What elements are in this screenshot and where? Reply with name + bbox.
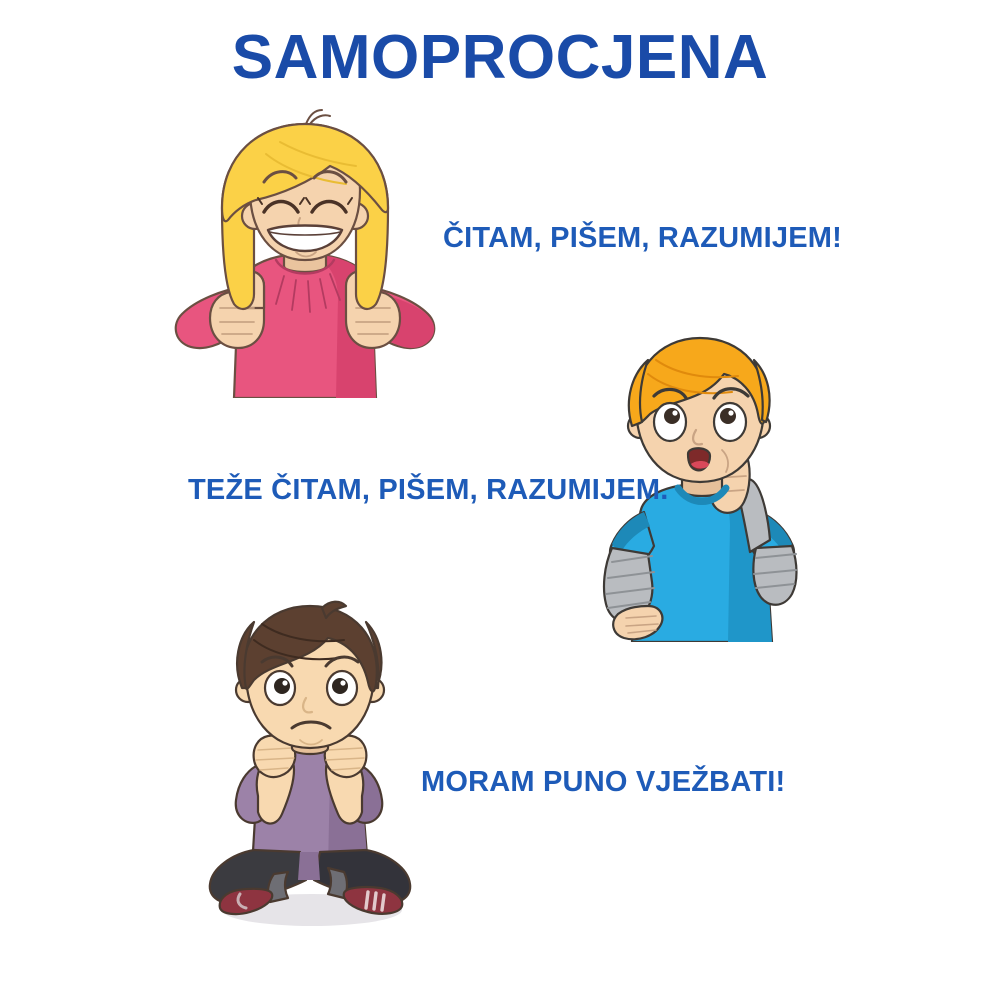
caption-reads-writes-understands: ČITAM, PIŠEM, RAZUMIJEM! [443, 222, 842, 255]
caption-must-practice-a-lot: MORAM PUNO VJEŽBATI! [421, 766, 785, 799]
illustration-happy-girl [160, 108, 450, 398]
poster-canvas: SAMOPROCJENA [0, 0, 1000, 1000]
caption-reads-writes-harder: TEŽE ČITAM, PIŠEM, RAZUMIJEM. [188, 474, 669, 507]
page-title: SAMOPROCJENA [0, 22, 1000, 93]
illustration-sad-boy [196, 600, 422, 930]
